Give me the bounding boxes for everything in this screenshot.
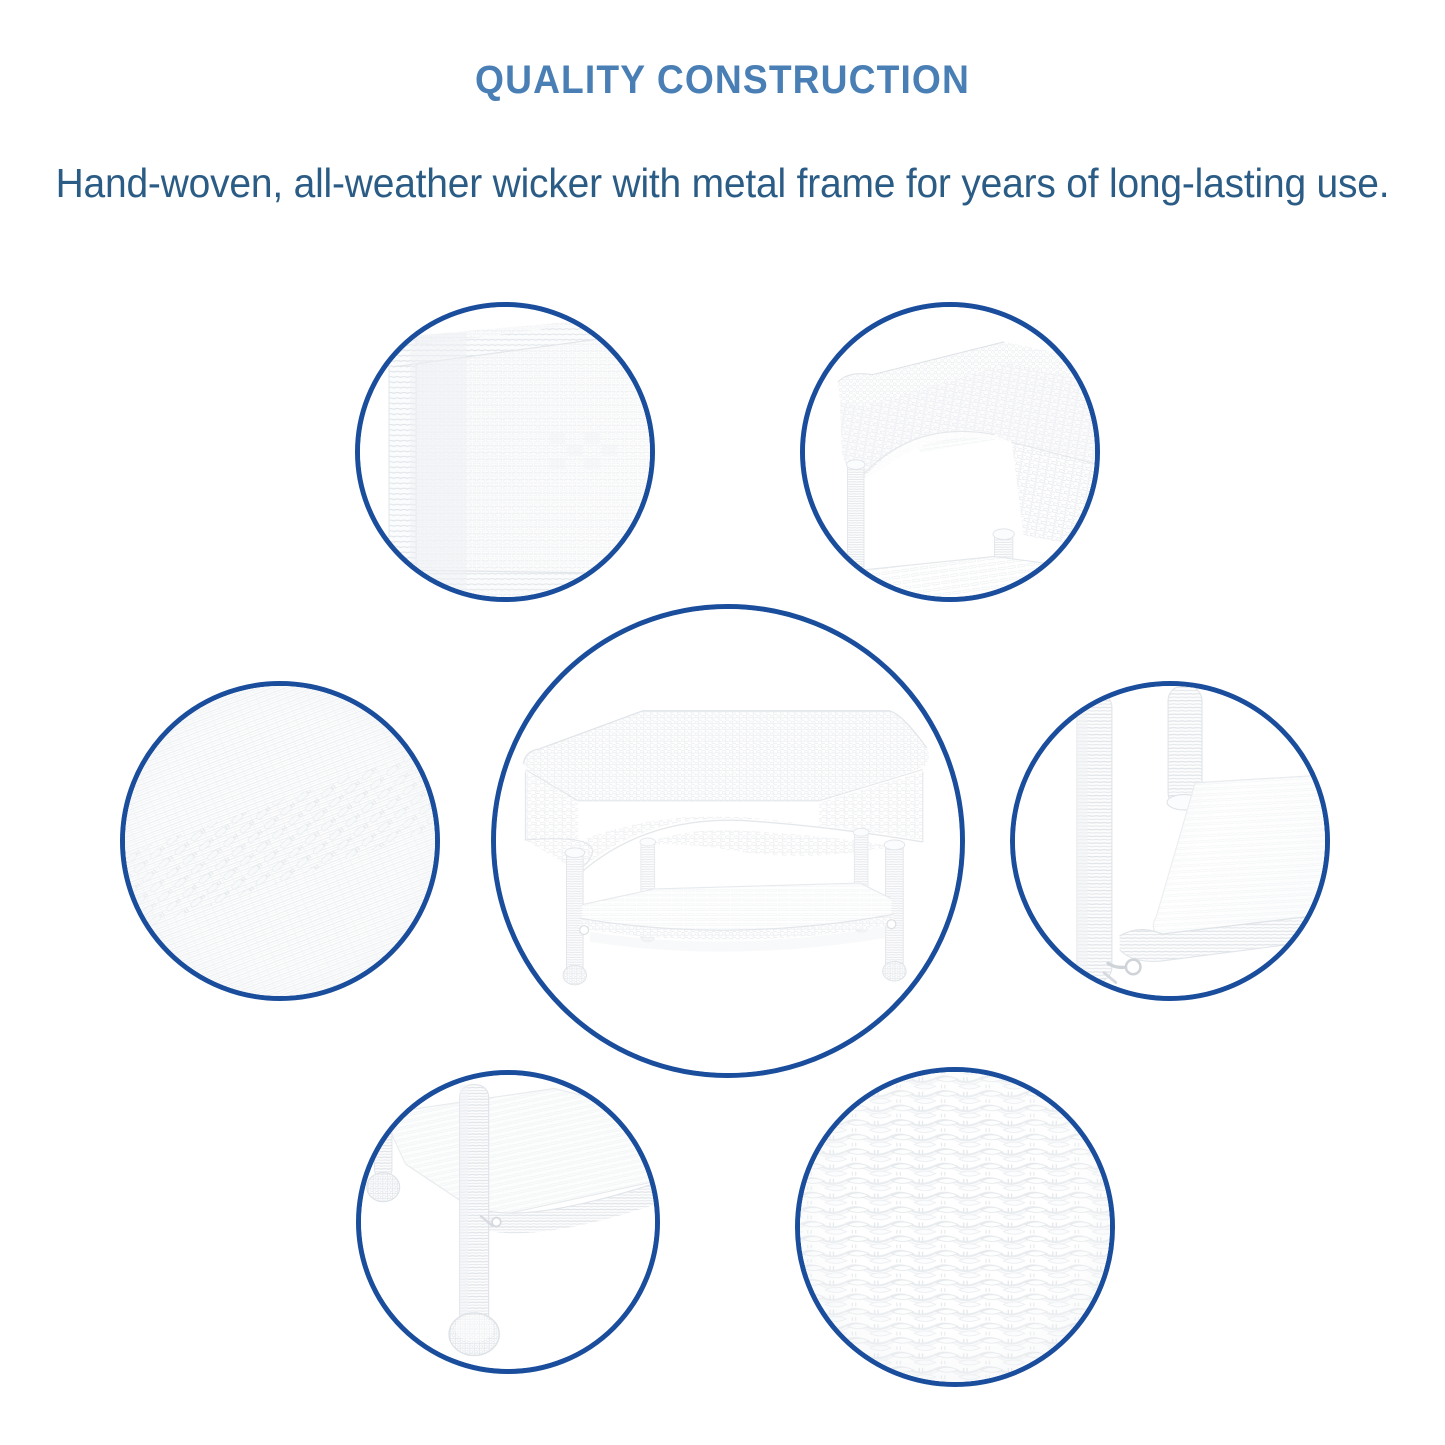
callout-full-product-coffee-table bbox=[491, 604, 965, 1078]
callout-flat-weave-macro bbox=[795, 1067, 1115, 1387]
callout-image-flat-weave-macro bbox=[800, 1072, 1110, 1382]
infographic-page: QUALITY CONSTRUCTION Hand-woven, all-wea… bbox=[0, 0, 1445, 1445]
callout-image-leg-shelf-joint bbox=[1015, 686, 1325, 996]
callout-leg-foot-caps bbox=[356, 1070, 660, 1374]
callout-table-edge-corner bbox=[800, 302, 1100, 602]
callout-image-full-product-coffee-table bbox=[496, 609, 960, 1073]
callout-image-weave-texture-diagonal bbox=[125, 686, 435, 996]
callout-image-leg-foot-caps bbox=[361, 1075, 655, 1369]
callout-leg-shelf-joint bbox=[1010, 681, 1330, 1001]
callout-weave-texture-diagonal bbox=[120, 681, 440, 1001]
callout-wicker-panel-corner bbox=[355, 302, 655, 602]
callout-image-table-edge-corner bbox=[805, 307, 1095, 597]
callout-image-wicker-panel-corner bbox=[360, 307, 650, 597]
page-subtitle: Hand-woven, all-weather wicker with meta… bbox=[36, 160, 1409, 207]
page-title: QUALITY CONSTRUCTION bbox=[51, 58, 1395, 103]
